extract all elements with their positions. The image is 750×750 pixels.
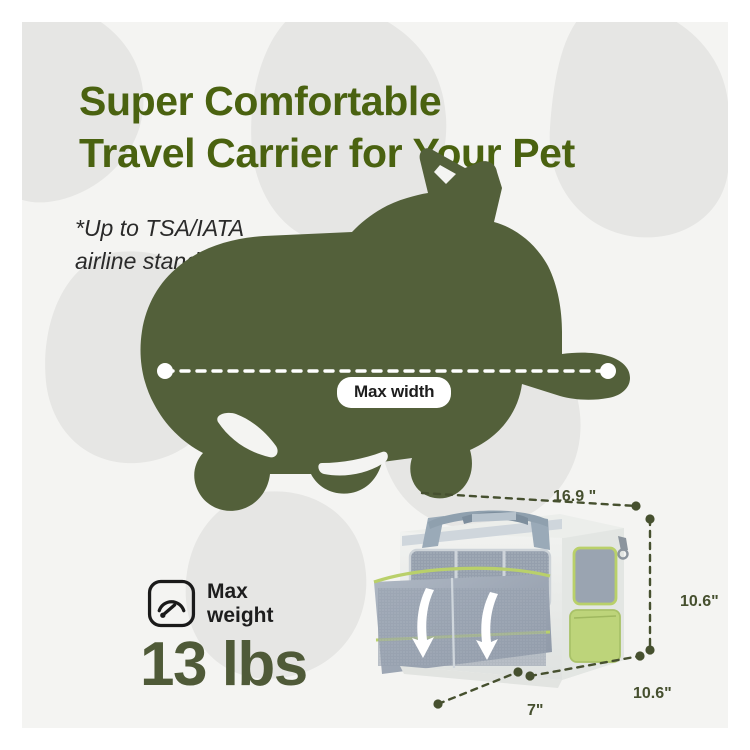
carrier-right-window <box>574 548 616 604</box>
dimension-height-right: 10.6" <box>680 593 719 611</box>
dimension-depth-front: 10.6" <box>633 685 672 703</box>
max-weight-label: Max weight <box>207 580 274 628</box>
max-weight-value: 13 lbs <box>140 634 377 696</box>
dimension-depth-left: 7" <box>527 702 543 720</box>
max-width-endpoint-left <box>157 363 173 379</box>
max-width-badge: Max width <box>337 377 451 408</box>
content-panel: Super Comfortable Travel Carrier for You… <box>22 22 728 728</box>
infographic-canvas: Super Comfortable Travel Carrier for You… <box>0 0 750 750</box>
product-image-carrier <box>352 492 682 707</box>
max-width-endpoint-right <box>600 363 616 379</box>
dimension-width-top: 16.9 " <box>553 488 596 506</box>
max-weight-callout: Max weight 13 lbs <box>147 579 377 696</box>
gauge-icon <box>147 579 196 628</box>
